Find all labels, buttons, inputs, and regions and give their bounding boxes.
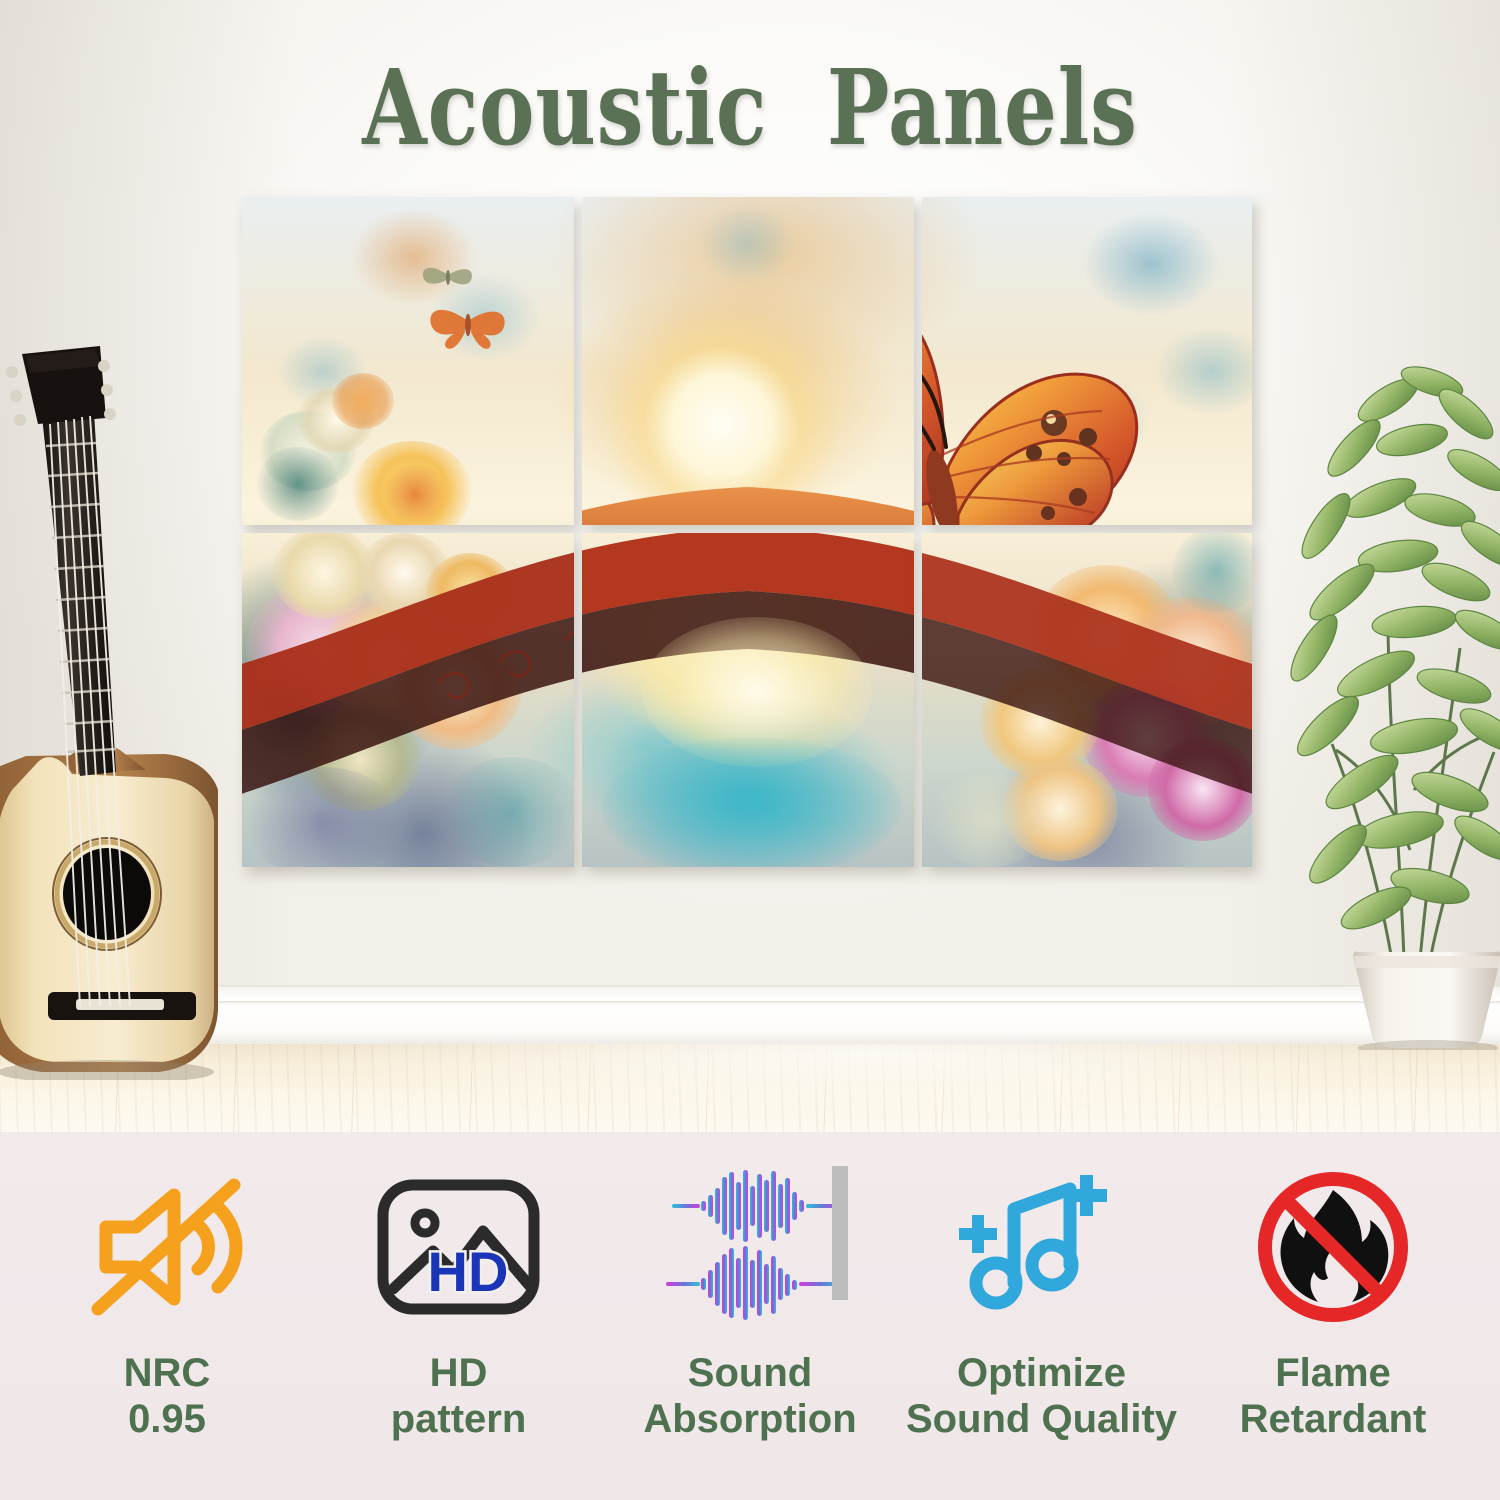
feature-optimize-sound-quality: Optimize Sound Quality [901, 1158, 1183, 1443]
feature-label-flame-retardant: Flame Retardant [1240, 1350, 1427, 1443]
hd-badge-text: HD [428, 1240, 509, 1303]
feature-nrc: NRC 0.95 [26, 1158, 308, 1443]
feature-label-hd-pattern: HD pattern [391, 1350, 527, 1443]
feature-sound-absorption: Sound Absorption [609, 1158, 891, 1443]
product-listing-image: Acoustic Panels NRC 0.95 [0, 0, 1500, 1500]
feature-flame-retardant: Flame Retardant [1192, 1158, 1474, 1443]
water-highlights [582, 533, 914, 867]
no-flame-icon [1248, 1158, 1418, 1336]
panel-bottom-left[interactable] [242, 533, 574, 867]
acoustic-guitar [0, 320, 256, 1080]
feature-hd-pattern: HD HD pattern [318, 1158, 600, 1443]
panel-bottom-right[interactable] [922, 533, 1252, 867]
feature-label-sound-absorption: Sound Absorption [643, 1350, 856, 1443]
large-butterfly [922, 197, 1252, 525]
page-title: Acoustic Panels [150, 46, 1350, 169]
bridge-arch [582, 197, 914, 525]
music-note-sparkle-icon [952, 1158, 1132, 1336]
feature-label-optimize-sound-quality: Optimize Sound Quality [906, 1350, 1177, 1443]
panel-top-left[interactable] [242, 197, 574, 525]
hd-image-icon: HD [371, 1158, 546, 1336]
bridge-arch-left [242, 533, 574, 867]
sparkle-plus-left [959, 1215, 997, 1253]
feature-banner: NRC 0.95 HD HD pattern [0, 1132, 1500, 1500]
small-butterflies [242, 197, 574, 525]
muted-speaker-icon [78, 1158, 256, 1336]
absorbing-wall [832, 1166, 848, 1300]
sound-absorption-waveform-icon [650, 1158, 850, 1336]
feature-label-nrc: NRC 0.95 [124, 1350, 211, 1443]
potted-plant [1280, 330, 1500, 1050]
panel-top-center[interactable] [582, 197, 914, 525]
panel-top-right[interactable] [922, 197, 1252, 525]
bridge-arch-right [922, 533, 1252, 867]
room-scene [0, 0, 1500, 1132]
acoustic-panel-artwork[interactable] [242, 197, 1252, 867]
panel-bottom-center[interactable] [582, 533, 914, 867]
